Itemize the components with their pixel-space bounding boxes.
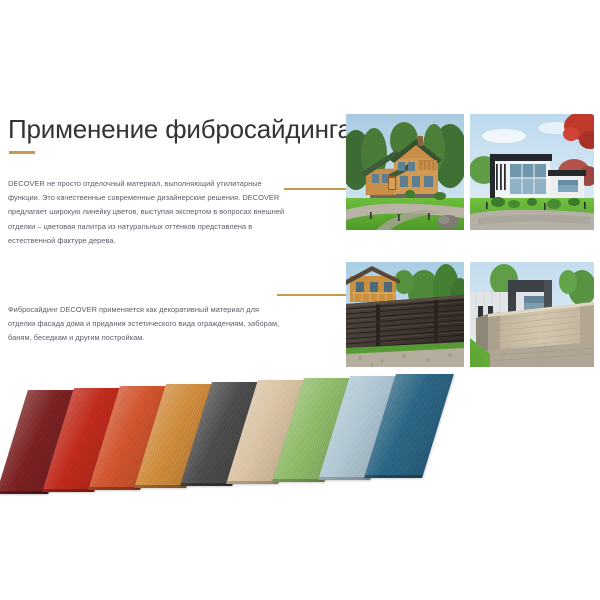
photo-dark-louvered-fence[interactable] [346,262,464,367]
wooden-chalet-illustration [346,114,464,230]
intro-paragraph: DECOVER не просто отделочный материал, в… [8,177,286,248]
louvered-fence-illustration [346,262,464,367]
connector-to-fence-line [277,294,346,296]
slide-canvas: Применение фибросайдинга DECOVER не прос… [0,0,600,600]
photo-wooden-chalet-house[interactable] [346,114,464,230]
page-title: Применение фибросайдинга [8,114,352,144]
modern-house-illustration [470,114,594,230]
plank-edge [364,475,423,478]
application-paragraph: Фибросайдинг DECOVER применяется как дек… [8,303,286,346]
connector-to-chalet-line [284,188,346,190]
title-accent-rule [9,151,35,154]
photo-beige-fibre-wall[interactable] [470,262,594,367]
photo-modern-white-house[interactable] [470,114,594,230]
beige-wall-illustration [470,262,594,367]
colour-palette-fan [0,378,600,508]
